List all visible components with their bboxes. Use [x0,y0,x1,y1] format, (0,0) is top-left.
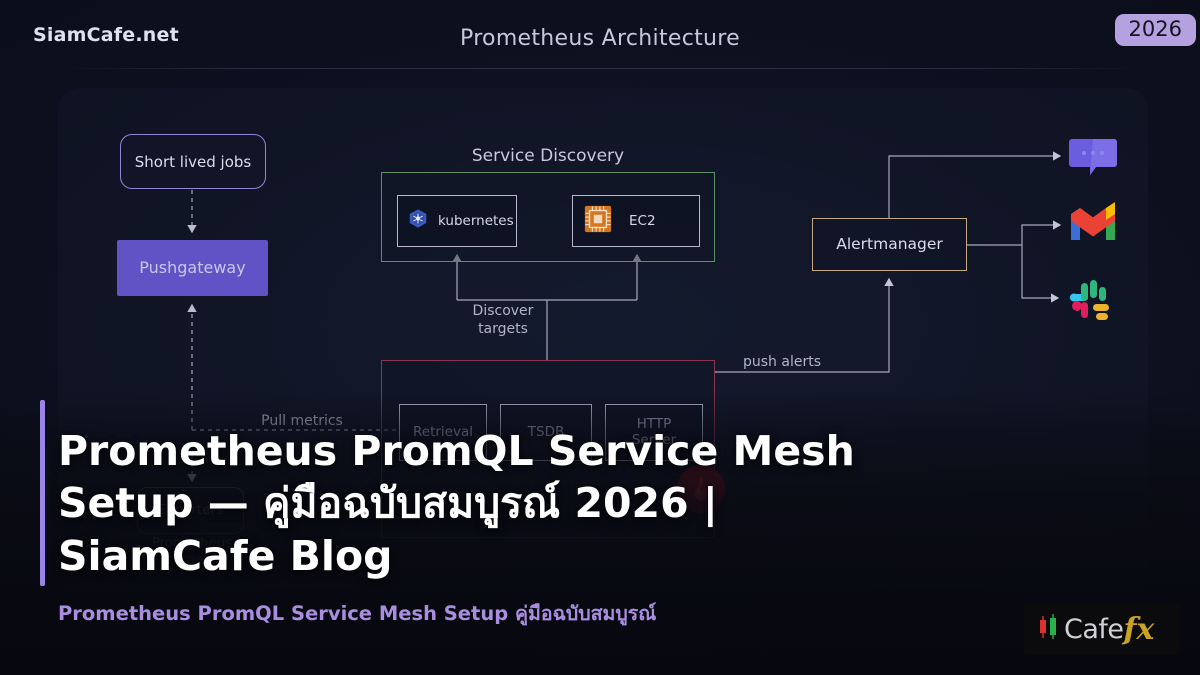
kubernetes-icon [407,208,429,234]
diagram-title: Prometheus Architecture [0,26,1200,51]
year-badge: 2026 [1115,14,1196,46]
ec2-chip-icon [583,204,613,238]
node-label: Short lived jobs [135,153,251,171]
node-label: kubernetes [438,213,514,229]
brand-suffix: fx [1124,612,1155,647]
candlestick-icon [1036,612,1062,646]
brand-logo: Cafe fx [1024,603,1180,655]
node-short-lived-jobs: Short lived jobs [120,134,266,189]
title-accent-bar [40,400,45,586]
node-label: Alertmanager [836,235,943,254]
page-subtitle: Prometheus PromQL Service Mesh Setup คู่… [58,602,838,625]
node-label: EC2 [629,213,656,229]
label-push-alerts: push alerts [722,354,842,372]
label-discover-targets: Discover targets [448,303,558,338]
node-label: Pushgateway [139,258,245,277]
node-ec2: EC2 [572,195,700,247]
chat-bubble-icon [1068,133,1118,183]
slack-icon [1066,272,1116,322]
node-pushgateway: Pushgateway [117,240,268,296]
header-divider [56,68,1146,69]
node-alertmanager: Alertmanager [812,218,967,271]
gmail-icon [1068,200,1118,250]
page-title: Prometheus PromQL Service Mesh Setup — ค… [58,425,858,582]
service-discovery-title: Service Discovery [448,145,648,167]
node-kubernetes: kubernetes [397,195,517,247]
brand-name: Cafe [1064,614,1124,645]
